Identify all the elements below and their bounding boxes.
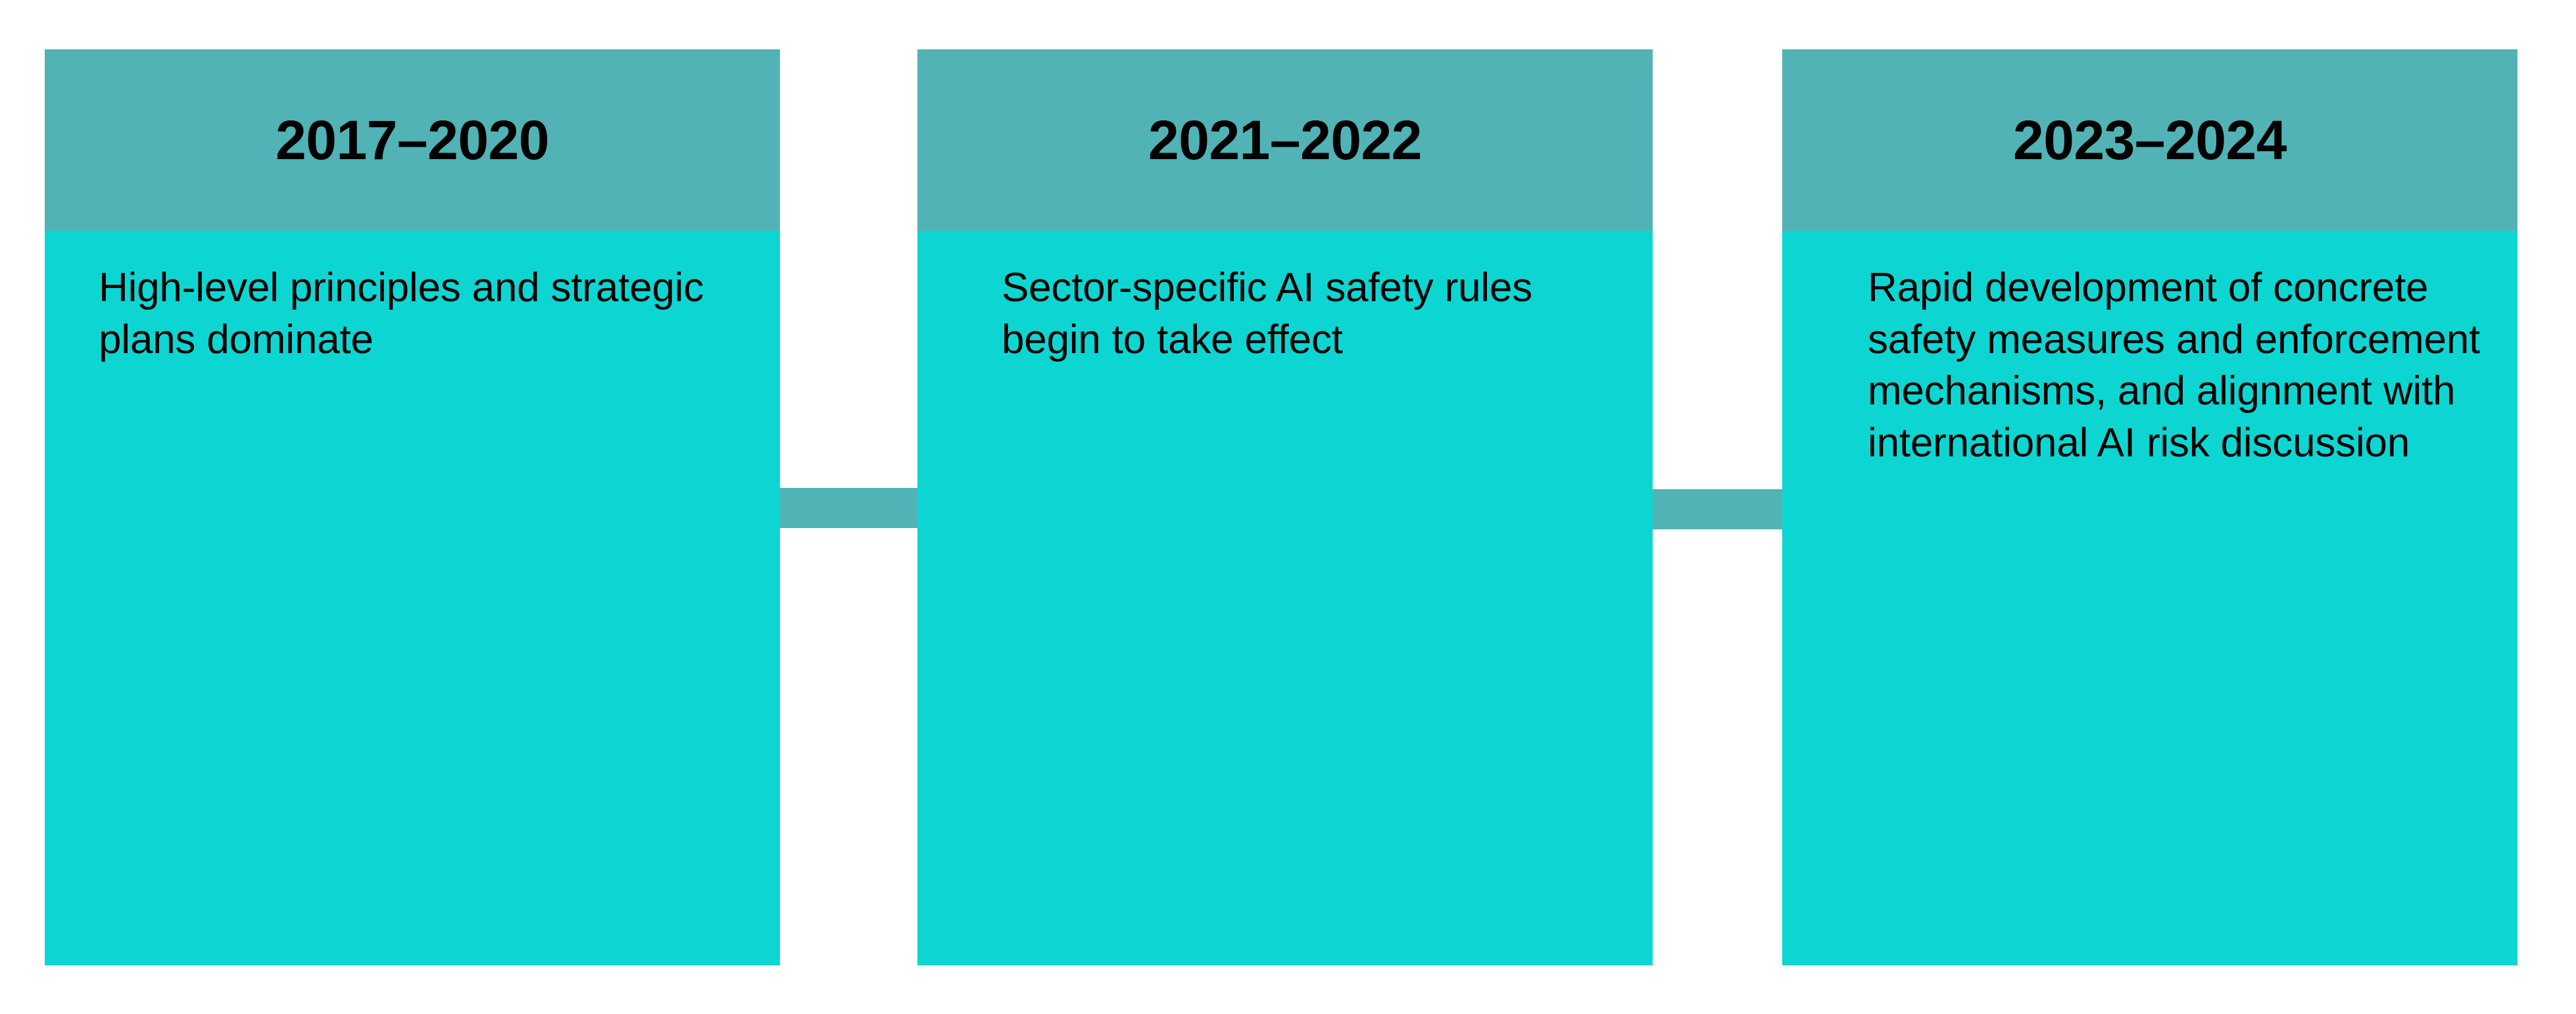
timeline-stage-title-1: 2017–2020 (276, 112, 549, 168)
timeline-stage-description-1: High-level principles and strategic plan… (99, 262, 741, 366)
timeline-stage-body-2: Sector-specific AI safety rules begin to… (917, 231, 1653, 965)
timeline-stage-title-2: 2021–2022 (1148, 112, 1422, 168)
timeline-stage-card-3[interactable]: 2023–2024 Rapid development of concrete … (1782, 49, 2517, 965)
timeline-stage-header-2: 2021–2022 (917, 49, 1653, 231)
timeline-stage-body-1: High-level principles and strategic plan… (45, 231, 780, 965)
timeline-stage-body-3: Rapid development of concrete safety mea… (1782, 231, 2517, 965)
timeline-stage-description-2: Sector-specific AI safety rules begin to… (1002, 262, 1613, 366)
timeline-stage-header-1: 2017–2020 (45, 49, 780, 231)
timeline-connector-1 (780, 488, 918, 528)
timeline-stage-header-3: 2023–2024 (1782, 49, 2517, 231)
timeline-stage-title-3: 2023–2024 (2013, 112, 2287, 168)
timeline-connector-2 (1653, 489, 1783, 529)
timeline-stage-card-1[interactable]: 2017–2020 High-level principles and stra… (45, 49, 780, 965)
timeline-stage-description-3: Rapid development of concrete safety mea… (1868, 262, 2487, 470)
timeline-diagram: 2017–2020 High-level principles and stra… (0, 0, 2576, 1014)
timeline-stage-card-2[interactable]: 2021–2022 Sector-specific AI safety rule… (917, 49, 1653, 965)
